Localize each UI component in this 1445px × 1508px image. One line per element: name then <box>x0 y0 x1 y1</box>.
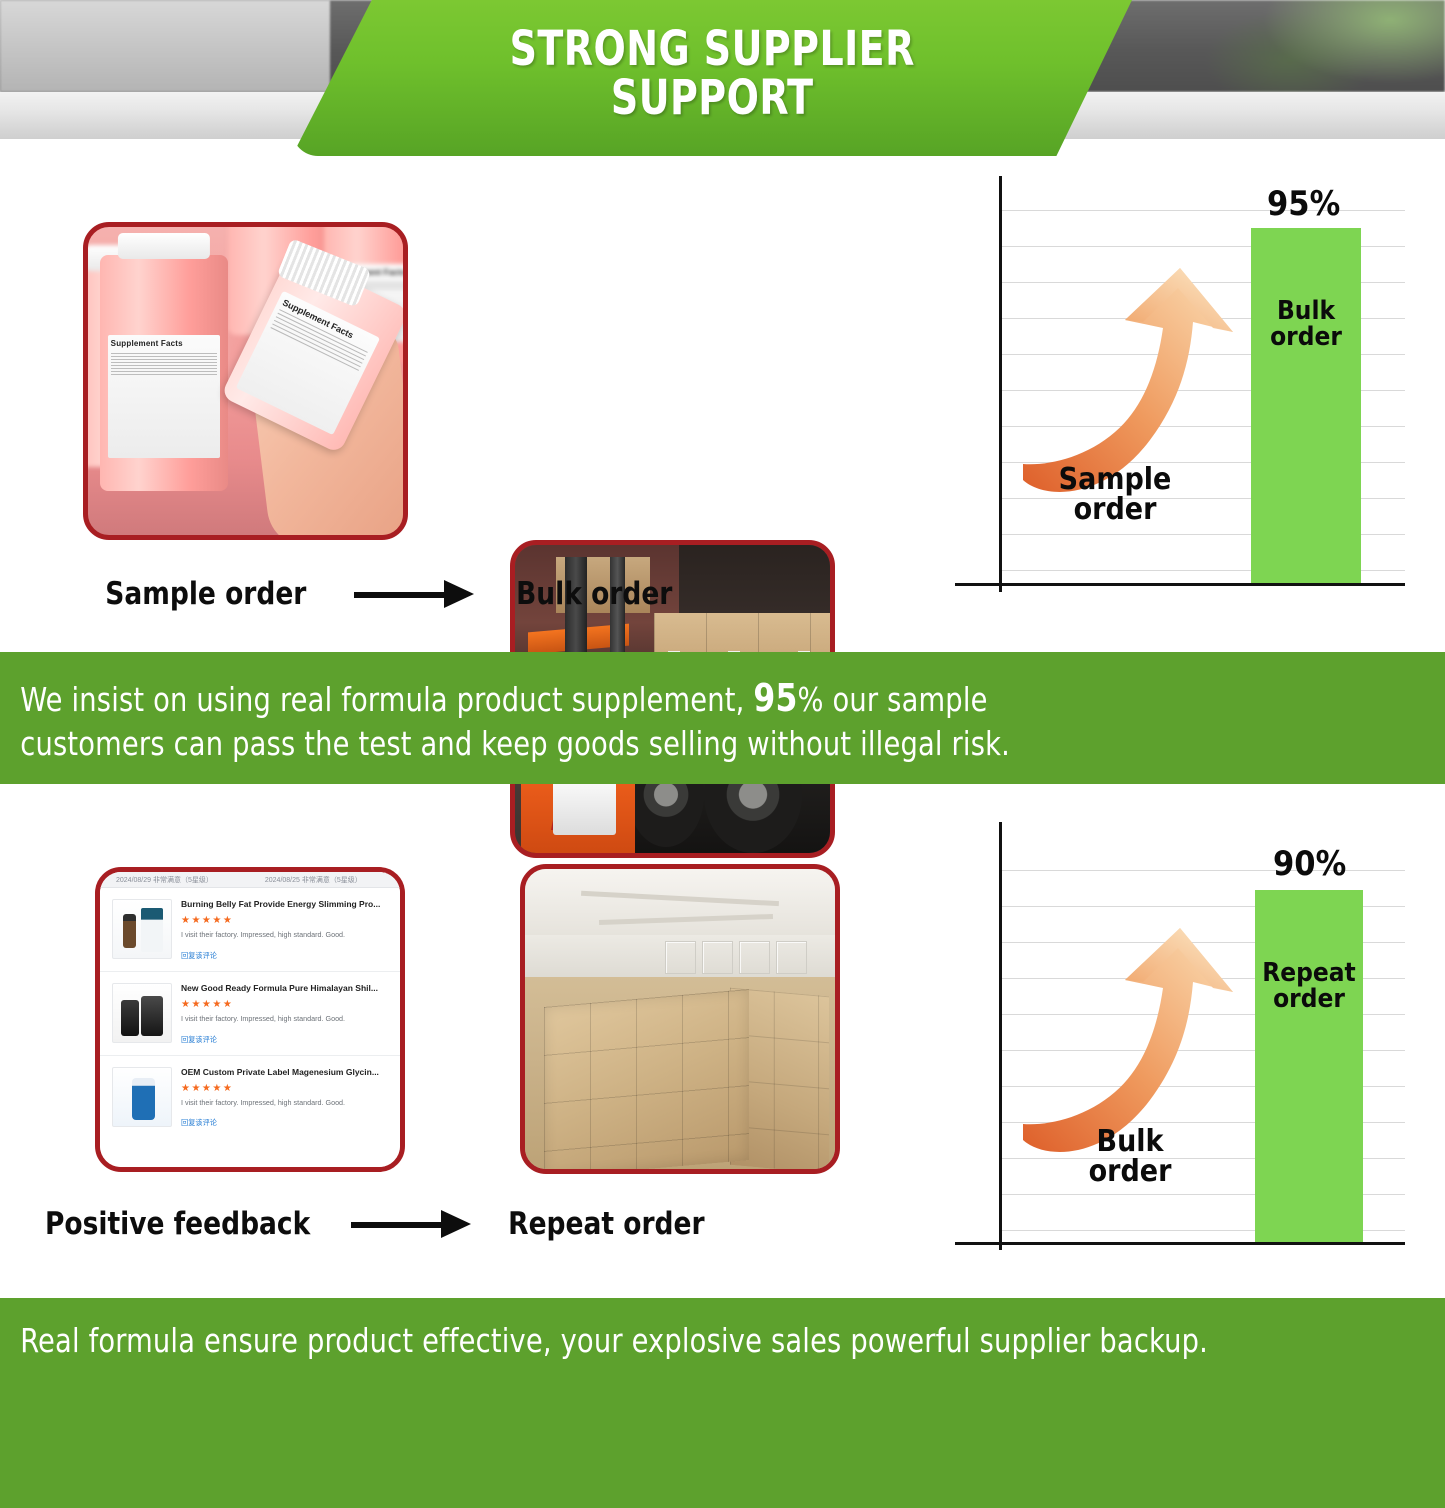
x-axis <box>955 583 1405 586</box>
bottle-front: Supplement Facts <box>100 255 228 491</box>
review-text: I visit their factory. Impressed, high s… <box>181 1098 388 1108</box>
review-product-title[interactable]: OEM Custom Private Label Magenesium Glyc… <box>181 1067 388 1078</box>
banner-bottom-text: Real formula ensure product effective, y… <box>0 1298 1236 1362</box>
chart1-value-label: 95% <box>1267 184 1340 224</box>
row2-caption-group: Positive feedback Repeat order <box>38 1200 858 1248</box>
bottle-cap-front <box>118 233 210 259</box>
chart1-bar-label: Bulk order <box>1270 228 1342 350</box>
section-sample-to-bulk: Supplement Facts Supplement Facts Supple… <box>0 170 1445 645</box>
review-text: I visit their factory. Impressed, high s… <box>181 1014 388 1024</box>
right-arrow-icon <box>351 1219 471 1229</box>
chart2-bar-repeat: Repeat order <box>1255 890 1363 1242</box>
chart1-bar-bulk: Bulk order <box>1251 228 1361 583</box>
review-text: I visit their factory. Impressed, high s… <box>181 930 388 940</box>
warehouse-cartons-photo <box>520 864 840 1174</box>
chart1-base-label: Sample order <box>1015 465 1215 525</box>
star-rating-icon: ★★★★★ <box>181 915 388 926</box>
reply-link[interactable]: 回复该评论 <box>181 1035 388 1045</box>
star-rating-icon: ★★★★★ <box>181 1083 388 1094</box>
product-thumbnail <box>112 1067 172 1127</box>
x-axis <box>955 1242 1405 1245</box>
list-item[interactable]: OEM Custom Private Label Magenesium Glyc… <box>100 1056 400 1139</box>
caption-sample-order: Sample order <box>105 576 306 612</box>
chart2-value-label: 90% <box>1273 844 1346 884</box>
product-thumbnail <box>112 899 172 959</box>
bottle-label-front: Supplement Facts <box>108 335 221 458</box>
green-banner-top: We insist on using real formula product … <box>0 652 1445 784</box>
review-product-title[interactable]: Burning Belly Fat Provide Energy Slimmin… <box>181 899 388 910</box>
product-thumbnail <box>112 983 172 1043</box>
chart-plot-area: Sample order Bulk order 95% <box>955 170 1405 610</box>
chart2-bar-label: Repeat order <box>1262 890 1355 1012</box>
reply-link[interactable]: 回复该评论 <box>181 1118 388 1128</box>
banner-top-text: We insist on using real formula product … <box>0 652 1038 765</box>
list-item[interactable]: New Good Ready Formula Pure Himalayan Sh… <box>100 972 400 1056</box>
review-product-title[interactable]: New Good Ready Formula Pure Himalayan Sh… <box>181 983 388 994</box>
right-arrow-icon <box>354 589 474 599</box>
feedback-header-col-1: 2024/08/29 非常满意（5星级） <box>116 875 213 885</box>
caption-positive-feedback: Positive feedback <box>45 1206 310 1242</box>
warehouse-ceiling <box>525 869 835 935</box>
chart-bulk-to-repeat: Bulk order Repeat order 90% <box>955 822 1405 1272</box>
gridline <box>999 210 1405 211</box>
reply-link[interactable]: 回复该评论 <box>181 951 388 961</box>
page-title: STRONG SUPPLIER SUPPORT <box>509 25 914 131</box>
window <box>776 941 807 974</box>
header-green-banner: STRONG SUPPLIER SUPPORT <box>292 0 1132 156</box>
sample-bottles-photo: Supplement Facts Supplement Facts Supple… <box>83 222 408 540</box>
banner1-bold-95: 95 <box>753 676 797 720</box>
header-banner-area: STRONG SUPPLIER SUPPORT <box>0 0 1445 170</box>
banner1-line1b: % our sample <box>798 680 988 719</box>
feedback-header-row: 2024/08/29 非常满意（5星级） 2024/08/25 非常满意（5星级… <box>100 872 400 888</box>
caption-repeat-order: Repeat order <box>508 1206 704 1242</box>
star-rating-icon: ★★★★★ <box>181 999 388 1010</box>
chart-plot-area: Bulk order Repeat order 90% <box>955 822 1405 1272</box>
caption-bulk-order: Bulk order <box>516 576 672 612</box>
chart2-base-label: Bulk order <box>1035 1127 1225 1187</box>
section-feedback-to-repeat: 2024/08/29 非常满意（5星级） 2024/08/25 非常满意（5星级… <box>0 822 1445 1290</box>
window <box>702 941 733 974</box>
green-banner-bottom: Real formula ensure product effective, y… <box>0 1298 1445 1508</box>
row1-caption-group: Sample order Bulk order <box>100 570 860 618</box>
list-item[interactable]: Burning Belly Fat Provide Energy Slimmin… <box>100 888 400 972</box>
banner1-line2: customers can pass the test and keep goo… <box>20 724 1010 763</box>
feedback-header-col-2: 2024/08/25 非常满意（5星级） <box>265 875 362 885</box>
positive-feedback-screenshot: 2024/08/29 非常满意（5星级） 2024/08/25 非常满意（5星级… <box>95 867 405 1172</box>
pallet-stack-front <box>544 989 749 1174</box>
feedback-list: 2024/08/29 非常满意（5星级） 2024/08/25 非常满意（5星级… <box>100 872 400 1167</box>
window <box>665 941 696 974</box>
window <box>739 941 770 974</box>
header-background-left <box>0 0 330 92</box>
banner1-line1a: We insist on using real formula product … <box>20 680 753 719</box>
chart-sample-to-bulk: Sample order Bulk order 95% <box>955 170 1405 610</box>
